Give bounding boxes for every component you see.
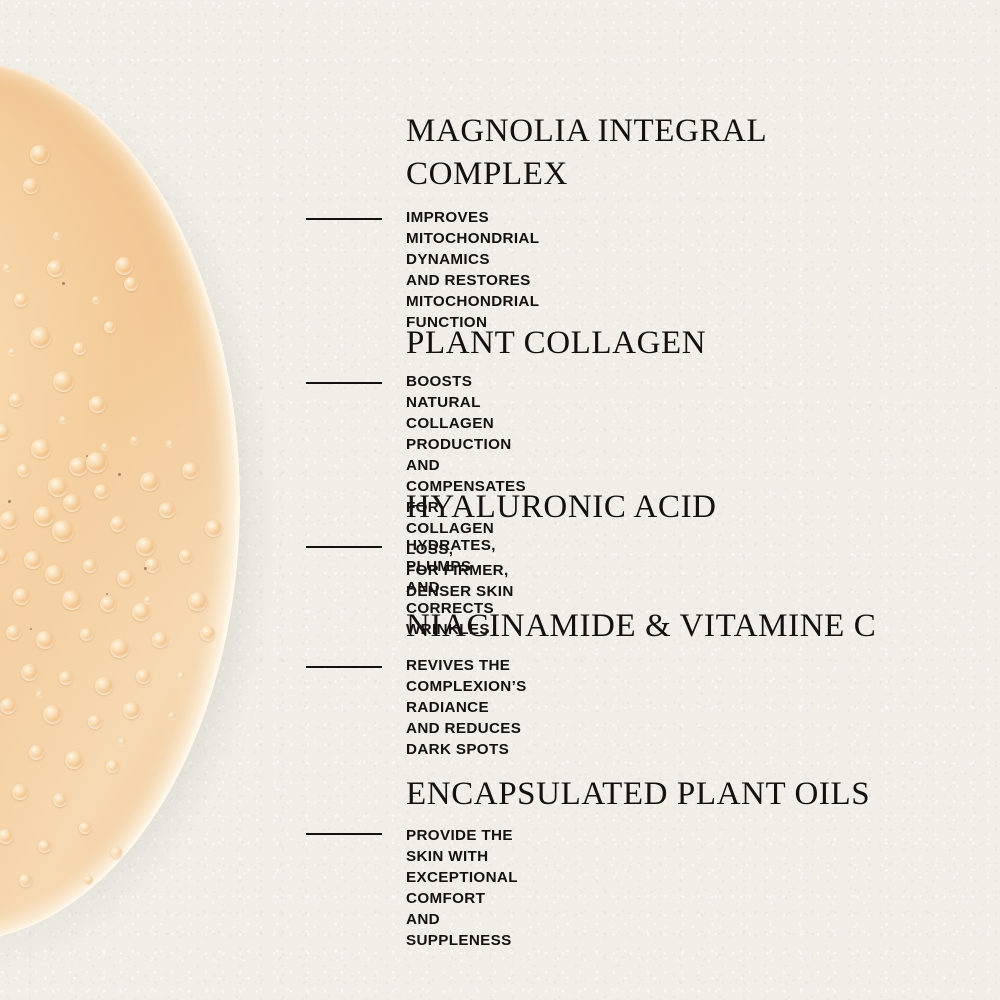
- ingredient-infographic-page: MAGNOLIA INTEGRAL COMPLEX IMPROVES MITOC…: [0, 0, 1000, 1000]
- ingredient-description: IMPROVES MITOCHONDRIAL DYNAMICS AND REST…: [406, 207, 539, 333]
- line-connector-icon: [306, 546, 382, 548]
- ingredient-title: NIACINAMIDE & VITAMINE C: [406, 605, 876, 648]
- line-connector-icon: [306, 382, 382, 384]
- ingredient-title: MAGNOLIA INTEGRAL COMPLEX: [406, 110, 836, 196]
- ingredient-description: PROVIDE THE SKIN WITH EXCEPTIONAL COMFOR…: [406, 825, 518, 951]
- line-connector-icon: [306, 833, 382, 835]
- ingredient-title: HYALURONIC ACID: [406, 486, 717, 529]
- ingredient-description: REVIVES THE COMPLEXION’S RADIANCE AND RE…: [406, 655, 527, 760]
- ingredient-title: PLANT COLLAGEN: [406, 322, 706, 365]
- ingredient-title: ENCAPSULATED PLANT OILS: [406, 773, 870, 816]
- line-connector-icon: [306, 218, 382, 220]
- ingredient-list: MAGNOLIA INTEGRAL COMPLEX IMPROVES MITOC…: [0, 0, 1000, 1000]
- line-connector-icon: [306, 666, 382, 668]
